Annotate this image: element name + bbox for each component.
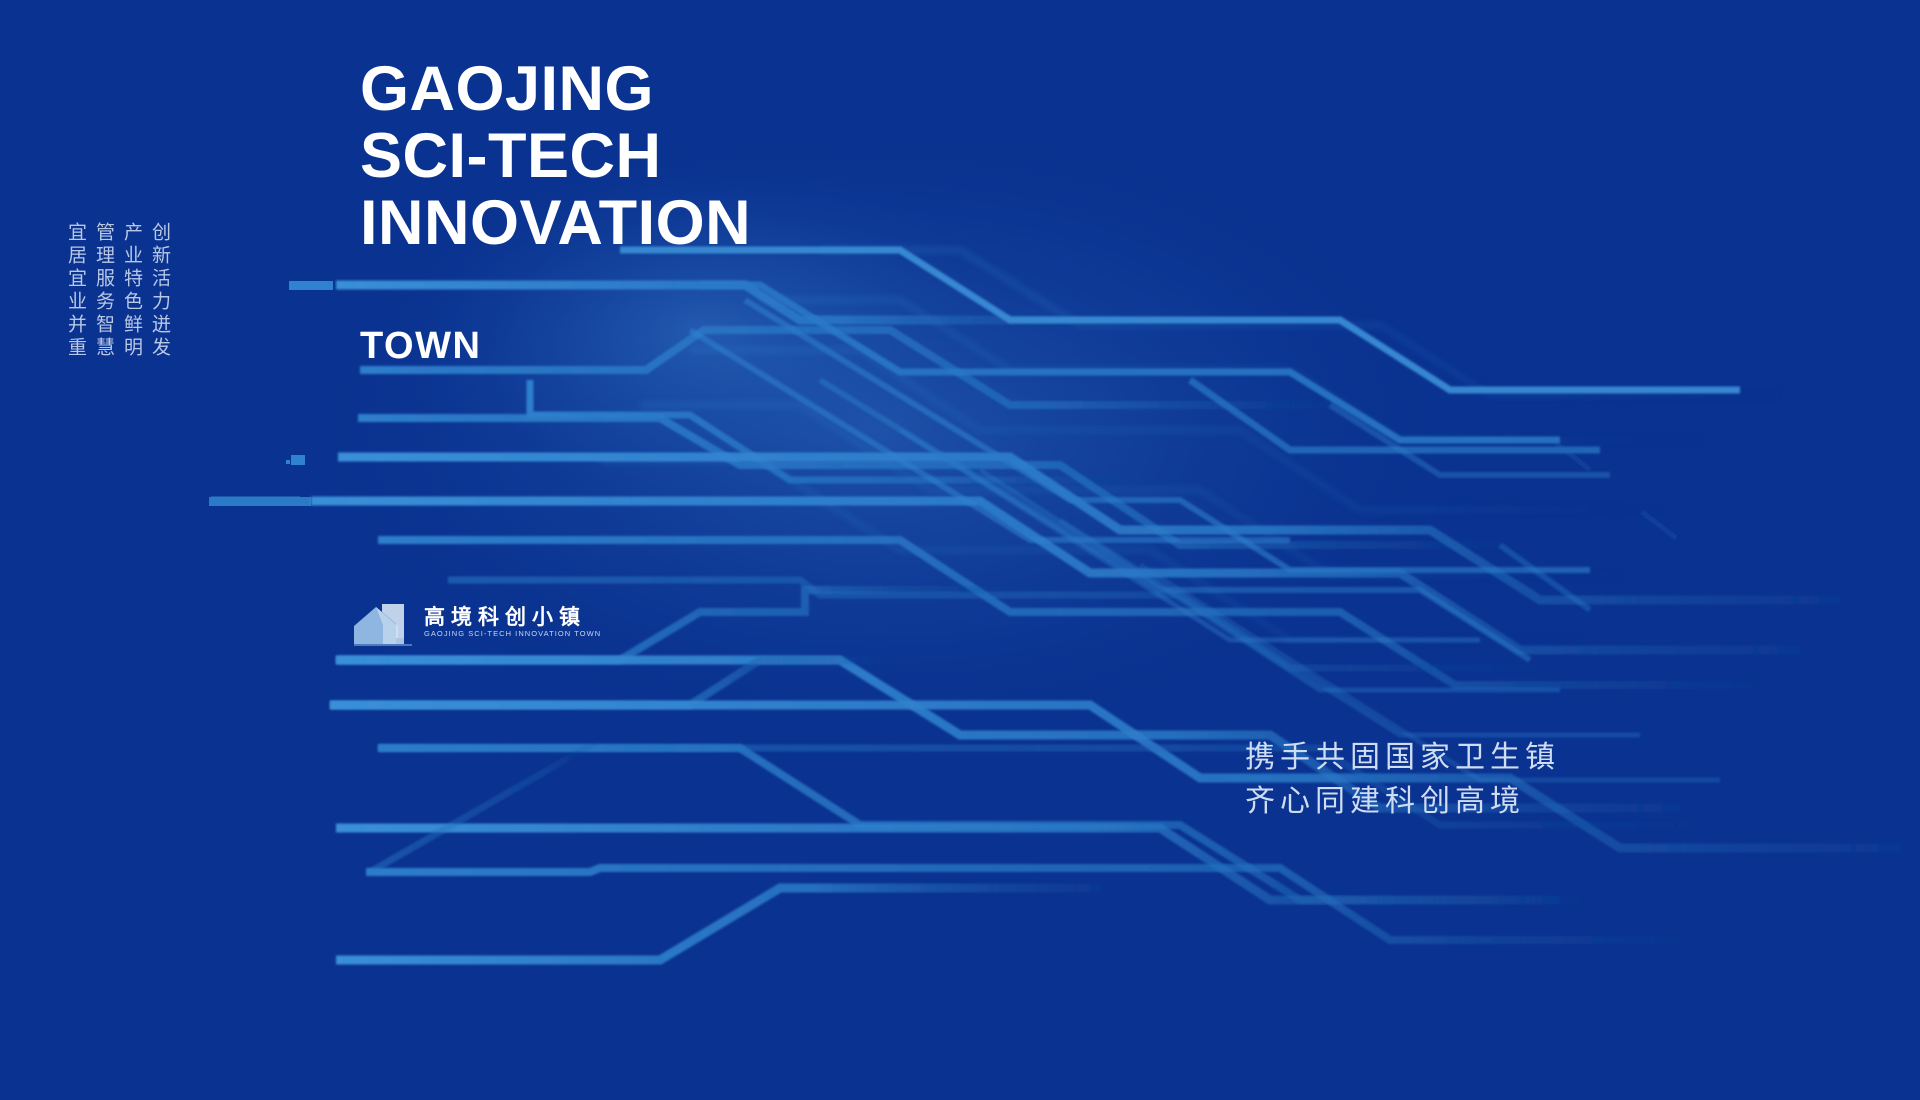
- vertical-slogan-column-1: 创新活力迸发: [150, 222, 169, 360]
- headline-subtitle: TOWN: [360, 325, 481, 368]
- vertical-slogan-column-3: 管理服务智慧: [94, 222, 113, 360]
- headline-line-1: GAOJING: [360, 58, 751, 121]
- vertical-slogan-column-2: 产业特色鲜明: [122, 222, 141, 360]
- headline-line-2: SCI-TECH: [360, 125, 751, 188]
- bottom-slogan-line-1: 携手共固国家卫生镇: [1245, 736, 1560, 780]
- logo-text-block: 高境科创小镇 GAOJING SCI-TECH INNOVATION TOWN: [424, 607, 601, 638]
- poster-canvas: 创新活力迸发 产业特色鲜明 管理服务智慧 宜居宜业并重 GAOJING SCI-…: [0, 0, 1920, 1100]
- vertical-slogan: 创新活力迸发 产业特色鲜明 管理服务智慧 宜居宜业并重: [66, 222, 169, 360]
- page-title: GAOJING SCI-TECH INNOVATION: [360, 58, 751, 255]
- circuit-trace-background: [0, 0, 1920, 1100]
- logo-chinese-name: 高境科创小镇: [424, 607, 601, 628]
- bottom-slogan: 携手共固国家卫生镇 齐心同建科创高境: [1245, 736, 1560, 823]
- brand-logo: 高境科创小镇 GAOJING SCI-TECH INNOVATION TOWN: [352, 598, 601, 646]
- logo-english-name: GAOJING SCI-TECH INNOVATION TOWN: [424, 630, 601, 638]
- headline-line-3: INNOVATION: [360, 192, 751, 255]
- house-building-icon: [352, 598, 414, 646]
- vertical-slogan-column-4: 宜居宜业并重: [66, 222, 85, 360]
- bottom-slogan-line-2: 齐心同建科创高境: [1245, 780, 1560, 824]
